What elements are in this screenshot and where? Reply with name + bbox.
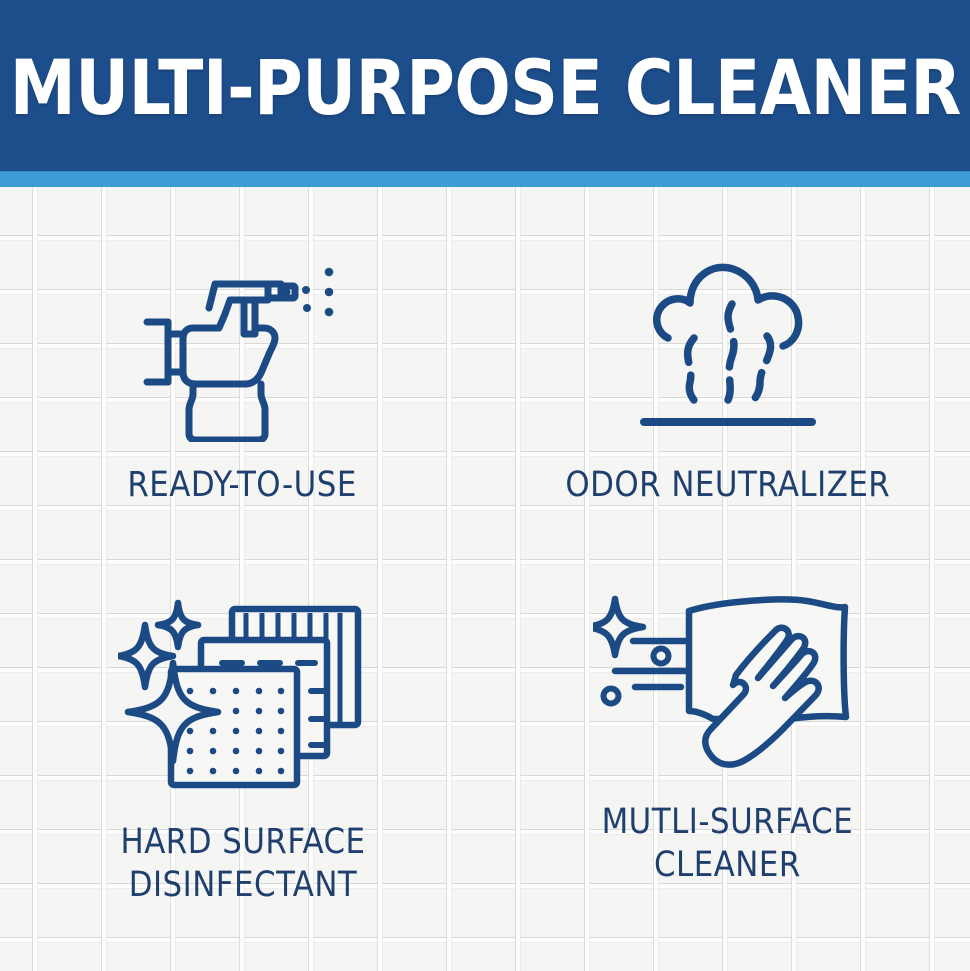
feature-label-odor-neutralizer: ODOR NEUTRALIZER xyxy=(565,464,890,507)
feature-label-ready-to-use: READY-TO-USE xyxy=(128,464,357,507)
spray-droplets-icon xyxy=(284,268,334,317)
hand-wiping-cloth-icon xyxy=(593,595,863,775)
feature-item-hard-surface-disinfectant: HARD SURFACE DISINFECTANT xyxy=(0,537,485,971)
feature-item-multi-surface-cleaner: MUTLI-SURFACE CLEANER xyxy=(485,537,970,971)
sparkle-icon xyxy=(593,599,643,655)
feature-label-hard-surface-disinfectant: HARD SURFACE DISINFECTANT xyxy=(120,821,365,908)
feature-label-multi-surface-cleaner: MUTLI-SURFACE CLEANER xyxy=(602,801,854,888)
product-feature-graphic: MULTI-PURPOSE CLEANER xyxy=(0,0,970,971)
stacked-surfaces-sparkle-icon xyxy=(118,595,368,795)
feature-item-odor-neutralizer: ODOR NEUTRALIZER xyxy=(485,187,970,537)
feature-grid: READY-TO-USE ODOR NEUTRALIZER xyxy=(0,187,970,971)
page-title: MULTI-PURPOSE CLEANER xyxy=(9,50,960,126)
feature-item-ready-to-use: READY-TO-USE xyxy=(0,187,485,537)
dotted-surface-panel-icon xyxy=(171,669,297,785)
motion-lines-icon xyxy=(615,641,685,687)
vapor-wisp-icon xyxy=(687,304,770,405)
odor-cloud-icon xyxy=(628,242,828,442)
spray-bottle-icon xyxy=(135,242,350,442)
header-banner: MULTI-PURPOSE CLEANER xyxy=(0,0,970,171)
header-accent-stripe xyxy=(0,171,970,188)
